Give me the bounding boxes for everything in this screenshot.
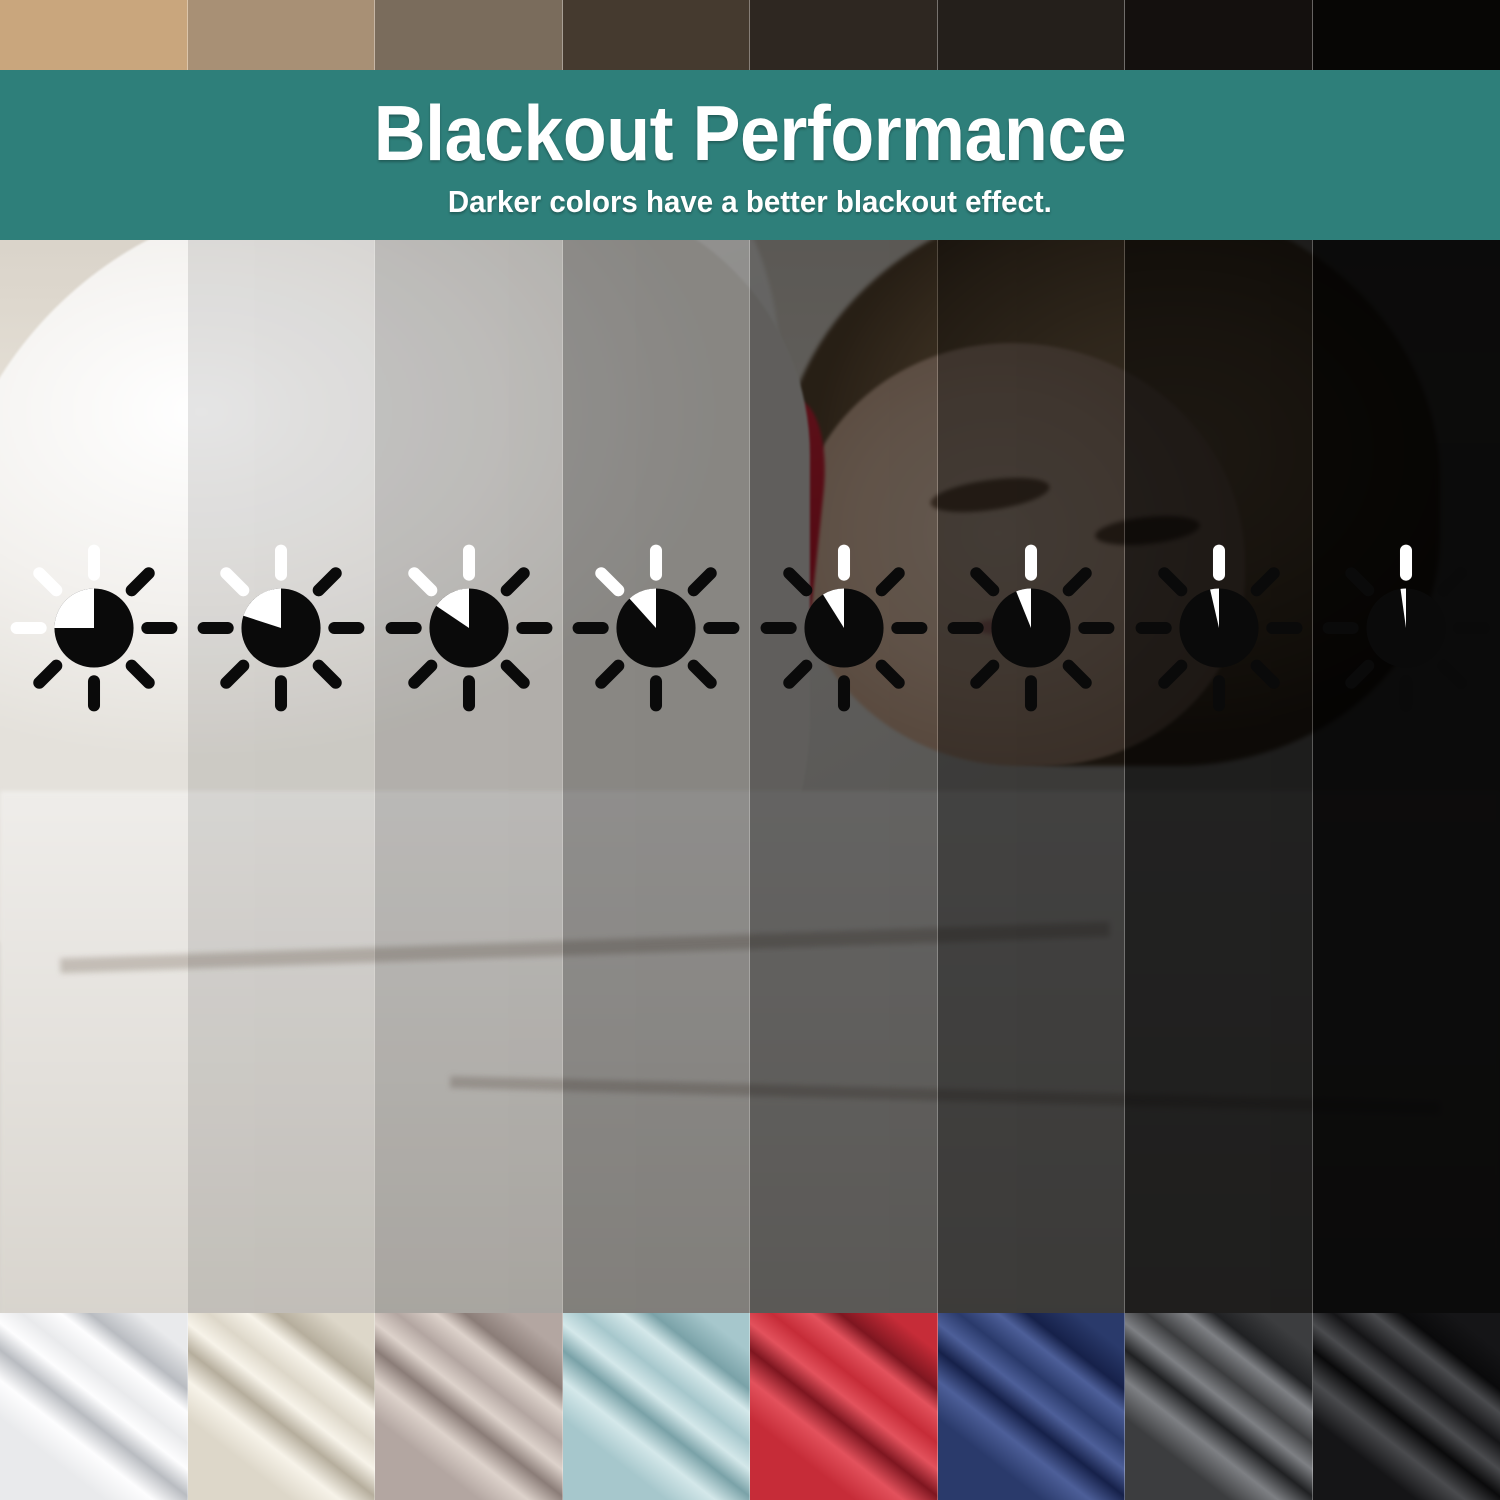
fabric-swatch-strip xyxy=(0,1313,1500,1500)
top-color-strip xyxy=(0,0,1500,70)
page-subtitle: Darker colors have a better blackout eff… xyxy=(448,186,1052,217)
fabric-swatch-white xyxy=(0,1313,188,1500)
top-strip-band-8 xyxy=(1313,0,1500,70)
fabric-swatch-light-blue xyxy=(563,1313,751,1500)
blackout-performance-infographic: Blackout Performance Darker colors have … xyxy=(0,0,1500,1500)
top-strip-band-6 xyxy=(938,0,1126,70)
fabric-swatch-black xyxy=(1313,1313,1500,1500)
fabric-swatch-dark-grey xyxy=(1125,1313,1313,1500)
fabric-swatch-taupe xyxy=(375,1313,563,1500)
top-strip-band-1 xyxy=(0,0,188,70)
top-strip-band-4 xyxy=(563,0,751,70)
top-strip-band-3 xyxy=(375,0,563,70)
overlay-column-2 xyxy=(188,70,376,1313)
fabric-swatch-red xyxy=(750,1313,938,1500)
overlay-column-7 xyxy=(1125,70,1313,1313)
photo-area xyxy=(0,70,1500,1313)
overlay-column-8 xyxy=(1313,70,1500,1313)
top-strip-band-7 xyxy=(1125,0,1313,70)
fabric-swatch-beige xyxy=(188,1313,376,1500)
overlay-column-3 xyxy=(375,70,563,1313)
page-title: Blackout Performance xyxy=(374,94,1127,172)
fabric-swatch-navy xyxy=(938,1313,1126,1500)
banner: Blackout Performance Darker colors have … xyxy=(0,70,1500,240)
overlay-column-4 xyxy=(563,70,751,1313)
top-strip-band-2 xyxy=(188,0,376,70)
blackout-gradient-columns xyxy=(0,70,1500,1313)
overlay-column-6 xyxy=(938,70,1126,1313)
overlay-column-5 xyxy=(750,70,938,1313)
top-strip-band-5 xyxy=(750,0,938,70)
